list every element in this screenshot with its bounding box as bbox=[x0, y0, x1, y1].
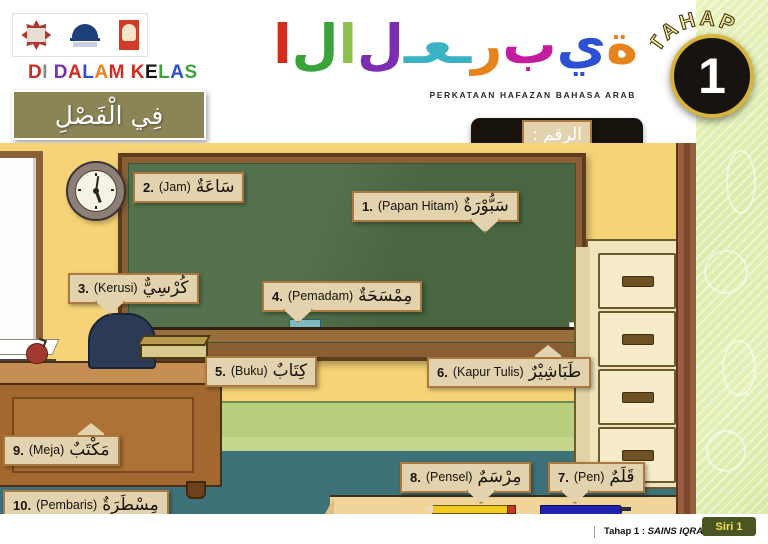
footer-credit-source: SAINS IQRA' bbox=[648, 526, 706, 537]
title-letter: ا bbox=[273, 18, 292, 72]
topic-letter: A bbox=[68, 62, 82, 84]
topic-letter: S bbox=[184, 62, 197, 84]
label-arabic: مِسْطَرَةٌ bbox=[102, 495, 159, 515]
label-buku: 5. (Buku) كِتَابٌ bbox=[205, 356, 317, 387]
title-letter: ر bbox=[471, 18, 502, 72]
label-number: 4. bbox=[272, 289, 283, 304]
topic-letter: M bbox=[109, 62, 125, 84]
label-arabic: كِتَابٌ bbox=[273, 361, 307, 381]
pencil bbox=[432, 505, 510, 514]
label-arabic: مَكْتَبٌ bbox=[69, 440, 109, 460]
label-meja: 9. (Meja) مَكْتَبٌ bbox=[3, 435, 120, 466]
filing-cabinet bbox=[586, 239, 686, 489]
label-number: 1. bbox=[362, 199, 373, 214]
page-subtitle: PERKATAAN HAFAZAN BAHASA ARAB bbox=[430, 90, 636, 100]
label-number: 7. bbox=[558, 470, 569, 485]
topic-letter: K bbox=[131, 62, 145, 84]
label-number: 6. bbox=[437, 365, 448, 380]
cabinet-drawer[interactable] bbox=[598, 369, 676, 425]
label-number: 2. bbox=[143, 180, 154, 195]
label-arabic: مِرْسَمٌ bbox=[477, 467, 521, 487]
stage-badge: TAHAP 1 bbox=[650, 4, 760, 122]
topic-letter: D bbox=[54, 62, 68, 84]
book bbox=[140, 339, 208, 359]
label-papan-hitam: 1. (Papan Hitam) سَبُّوْرَةٌ bbox=[352, 191, 519, 222]
cabinet-drawer[interactable] bbox=[598, 253, 676, 309]
label-malay: (Pembaris) bbox=[36, 498, 97, 512]
label-malay: (Pemadam) bbox=[288, 289, 353, 303]
topic-letter: A bbox=[170, 62, 184, 84]
label-pemadam: 4. (Pemadam) مِمْسَحَةٌ bbox=[262, 281, 422, 312]
label-malay: (Kerusi) bbox=[94, 281, 138, 295]
topic-letter: L bbox=[158, 62, 170, 84]
label-arabic: سَبُّوْرَةٌ bbox=[463, 196, 508, 216]
title-letter: ب bbox=[502, 18, 556, 72]
clock-face bbox=[75, 170, 117, 212]
banner-arabic-text: فِي الْفَصْلِ bbox=[55, 101, 164, 130]
label-kapur-tulis: 6. (Kapur Tulis) طَبَاشِيْرٌ bbox=[427, 357, 591, 388]
label-number: 3. bbox=[78, 281, 89, 296]
door-frame bbox=[676, 143, 696, 544]
red-book-logo bbox=[119, 20, 139, 50]
topic-letter: D bbox=[28, 62, 42, 84]
title-letter: ل bbox=[292, 18, 339, 72]
apple bbox=[26, 343, 48, 364]
title-letter: ي bbox=[557, 18, 607, 72]
label-arabic: كُرْسِيٌّ bbox=[143, 278, 189, 298]
label-kerusi: 3. (Kerusi) كُرْسِيٌّ bbox=[68, 273, 199, 304]
series-badge: Siri 1 bbox=[702, 517, 756, 536]
label-arabic: طَبَاشِيْرٌ bbox=[529, 362, 582, 382]
stage-number: 1 bbox=[698, 51, 726, 101]
desk-leg bbox=[186, 481, 206, 499]
topic-banner: فِي الْفَصْلِ bbox=[12, 90, 206, 140]
label-number: 8. bbox=[410, 470, 421, 485]
label-pen: 7. (Pen) قَلَمٌ bbox=[548, 462, 645, 493]
label-malay: (Papan Hitam) bbox=[378, 199, 459, 213]
cabinet-drawer[interactable] bbox=[598, 311, 676, 367]
title-letter: ل bbox=[357, 18, 404, 72]
title-letter: ة bbox=[606, 18, 638, 72]
footer-credit-prefix: Tahap 1 : bbox=[604, 526, 648, 537]
footer-divider bbox=[594, 526, 595, 538]
logo-bar bbox=[12, 13, 148, 57]
label-malay: (Pensel) bbox=[426, 470, 473, 484]
label-malay: (Kapur Tulis) bbox=[453, 365, 524, 379]
label-malay: (Pen) bbox=[574, 470, 605, 484]
topic-label: DI DALAM KELAS bbox=[28, 62, 198, 84]
topic-letter: L bbox=[82, 62, 94, 84]
label-jam: 2. (Jam) سَاعَةٌ bbox=[133, 172, 244, 203]
teacher-desk bbox=[0, 361, 230, 506]
label-arabic: سَاعَةٌ bbox=[196, 177, 235, 197]
star-emblem-logo bbox=[21, 20, 51, 50]
slide-root: DI DALAM KELAS فِي الْفَصْلِ ةيبرـعـلالا… bbox=[0, 0, 768, 544]
topic-letter: A bbox=[94, 62, 108, 84]
title-letter: ا bbox=[338, 18, 357, 72]
page-title-arabic: ةيبرـعـلالا bbox=[273, 18, 638, 72]
footer-credit: Tahap 1 : SAINS IQRA' bbox=[604, 526, 705, 537]
wall-clock bbox=[66, 161, 126, 221]
label-arabic: مِمْسَحَةٌ bbox=[358, 286, 412, 306]
dome-emblem-logo bbox=[68, 21, 102, 49]
label-number: 5. bbox=[215, 364, 226, 379]
label-malay: (Meja) bbox=[29, 443, 64, 457]
label-pensel: 8. (Pensel) مِرْسَمٌ bbox=[400, 462, 531, 493]
label-number: 10. bbox=[13, 498, 31, 513]
topic-letter: E bbox=[145, 62, 158, 84]
label-malay: (Buku) bbox=[231, 364, 268, 378]
label-arabic: قَلَمٌ bbox=[609, 467, 634, 487]
stage-number-circle: 1 bbox=[670, 34, 754, 118]
label-number: 9. bbox=[13, 443, 24, 458]
series-badge-label: Siri 1 bbox=[716, 521, 743, 533]
label-malay: (Jam) bbox=[159, 180, 191, 194]
footer: Tahap 1 : SAINS IQRA' Siri 1 bbox=[0, 514, 768, 544]
title-letter: ـعـ bbox=[404, 18, 471, 72]
